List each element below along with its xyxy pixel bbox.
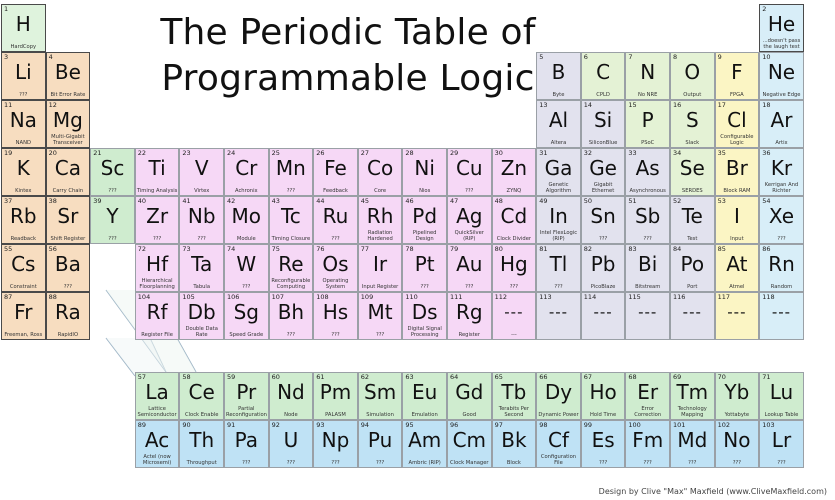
element-term-label: Asynchronous (627, 188, 668, 194)
element-symbol: Fr (2, 301, 45, 323)
element-symbol: Cu (448, 157, 491, 179)
element-cell-sb[interactable]: 51Sb??? (625, 196, 670, 244)
element-cell-rg[interactable]: 111RgRegister (447, 292, 492, 340)
element-cell-v[interactable]: 23VVirtex (179, 148, 224, 196)
element-term-label: Negative Edge (761, 92, 802, 98)
element-symbol: Sr (47, 205, 90, 227)
element-cell-p[interactable]: 15PPSoC (625, 100, 670, 148)
element-cell-dash[interactable]: 116--- (670, 292, 715, 340)
element-cell-mg[interactable]: 12MgMulti-Gigabit Transceiver (46, 100, 91, 148)
element-term-label: ??? (315, 332, 356, 338)
element-cell-y[interactable]: 39Y??? (90, 196, 135, 244)
element-symbol: Hg (493, 253, 536, 275)
atomic-number: 43 (272, 197, 280, 205)
element-symbol: As (626, 157, 669, 179)
atomic-number: 116 (673, 293, 685, 301)
element-symbol: Lr (760, 429, 803, 451)
element-cell-cl[interactable]: 17ClConfigurable Logic (715, 100, 760, 148)
element-term-label: ??? (360, 332, 401, 338)
element-symbol: Pb (582, 253, 625, 275)
element-cell-bi[interactable]: 83BiBitstream (625, 244, 670, 292)
element-symbol: Es (582, 429, 625, 451)
element-cell-ds[interactable]: 110DsDigital Signal Processing (402, 292, 447, 340)
element-term-label: Double Data Rate (181, 326, 222, 338)
element-cell-cr[interactable]: 24CrAchronix (224, 148, 269, 196)
element-term-label: Input (717, 236, 758, 242)
element-cell-k[interactable]: 19KKintex (1, 148, 46, 196)
element-cell-al[interactable]: 13AlAltera (536, 100, 581, 148)
element-symbol: No (716, 429, 759, 451)
element-symbol: F (716, 61, 759, 83)
element-symbol: Yb (716, 381, 759, 403)
element-term-label: Configurable Logic (717, 134, 758, 146)
atomic-number: 59 (227, 373, 235, 381)
element-term-label: PicoBlaze (583, 284, 624, 290)
atomic-number: 49 (539, 197, 547, 205)
element-cell-b[interactable]: 5BByte (536, 52, 581, 100)
element-term-label: Clock Manager (449, 460, 490, 466)
element-cell-ho[interactable]: 67HoHold Time (581, 372, 626, 420)
element-cell-rb[interactable]: 37RbReadback (1, 196, 46, 244)
atomic-number: 53 (718, 197, 726, 205)
element-cell-at[interactable]: 85AtAtmel (715, 244, 760, 292)
element-cell-co[interactable]: 27CoCore (358, 148, 403, 196)
atomic-number: 22 (138, 149, 146, 157)
element-term-label: Random (761, 284, 802, 290)
element-cell-er[interactable]: 68ErError Correction (625, 372, 670, 420)
element-cell-sr[interactable]: 38SrShift Register (46, 196, 91, 244)
element-symbol: Ho (582, 381, 625, 403)
element-cell-bk[interactable]: 97BkBlock (492, 420, 537, 468)
element-cell-am[interactable]: 95AmAmbric (RIP) (402, 420, 447, 468)
element-cell-mo[interactable]: 42MoModule (224, 196, 269, 244)
element-term-label: Slack (672, 140, 713, 146)
element-term-label: ??? (627, 460, 668, 466)
element-term-label: Hold Time (583, 412, 624, 418)
element-cell-dash[interactable]: 118--- (759, 292, 804, 340)
element-term-label: ??? (494, 284, 535, 290)
element-cell-ra[interactable]: 88RaRapidIO (46, 292, 91, 340)
element-cell-ru[interactable]: 44Ru??? (313, 196, 358, 244)
element-term-label: Timing Analysis (137, 188, 178, 194)
element-symbol: Hs (314, 301, 357, 323)
element-cell-ag[interactable]: 47AgQuickSilver (RIP) (447, 196, 492, 244)
element-term-label: Terabits Per Second (494, 406, 535, 418)
element-term-label: Genetic Algorithm (538, 182, 579, 194)
element-cell-cu[interactable]: 29Cu??? (447, 148, 492, 196)
element-symbol: Al (537, 109, 580, 131)
element-cell-n[interactable]: 7NNo NRE (625, 52, 670, 100)
element-symbol: I (716, 205, 759, 227)
element-term-label: Atmel (717, 284, 758, 290)
element-term-label: SiliconBlue (583, 140, 624, 146)
element-cell-lu[interactable]: 71LuLookup Table (759, 372, 804, 420)
atomic-number: 13 (539, 101, 547, 109)
element-cell-cf[interactable]: 98CfConfiguration File (536, 420, 581, 468)
element-symbol: Np (314, 429, 357, 451)
element-term-label: ??? (449, 284, 490, 290)
element-cell-sc[interactable]: 21Sc??? (90, 148, 135, 196)
element-symbol: Rh (359, 205, 402, 227)
element-cell-be[interactable]: 4BeBit Error Rate (46, 52, 91, 100)
element-term-label: Module (226, 236, 267, 242)
atomic-number: 35 (718, 149, 726, 157)
element-cell-bh[interactable]: 107Bh??? (269, 292, 314, 340)
element-symbol: Os (314, 253, 357, 275)
element-cell-sg[interactable]: 106SgSpeed Grade (224, 292, 269, 340)
element-cell-mt[interactable]: 109Mt??? (358, 292, 403, 340)
element-cell-dash[interactable]: 117--- (715, 292, 760, 340)
element-symbol: In (537, 205, 580, 227)
element-cell-ga[interactable]: 31GaGenetic Algorithm (536, 148, 581, 196)
atomic-number: 52 (673, 197, 681, 205)
element-cell-li[interactable]: 3Li??? (1, 52, 46, 100)
element-cell-s[interactable]: 16SSlack (670, 100, 715, 148)
element-cell-tc[interactable]: 43TcTiming Closure (269, 196, 314, 244)
element-symbol: Se (671, 157, 714, 179)
element-cell-zn[interactable]: 30ZnZYNQ (492, 148, 537, 196)
element-term-label: Virtex (181, 188, 222, 194)
element-term-label: ??? (404, 284, 445, 290)
element-symbol: Sn (582, 205, 625, 227)
element-term-label: --- (494, 332, 535, 338)
element-term-label: ZYNQ (494, 188, 535, 194)
element-term-label: Clock Enable (181, 412, 222, 418)
element-symbol: Bh (270, 301, 313, 323)
element-symbol: Ti (136, 157, 179, 179)
element-cell-w[interactable]: 74W??? (224, 244, 269, 292)
atomic-number: 87 (4, 293, 12, 301)
element-term-label: Digital Signal Processing (404, 326, 445, 338)
element-term-label: Yottabyte (717, 412, 758, 418)
credit-line: Design by Clive "Max" Maxfield (www.Cliv… (599, 487, 827, 496)
element-term-label: Simulation (360, 412, 401, 418)
element-term-label: ??? (761, 236, 802, 242)
element-symbol: Fe (314, 157, 357, 179)
element-symbol: Th (180, 429, 223, 451)
element-term-label: ...doesn't pass the laugh test (761, 38, 802, 50)
element-cell-br[interactable]: 35BrBlock RAM (715, 148, 760, 196)
atomic-number: 74 (227, 245, 235, 253)
element-cell-ce[interactable]: 58CeClock Enable (179, 372, 224, 420)
element-cell-si[interactable]: 14SiSiliconBlue (581, 100, 626, 148)
element-cell-ac[interactable]: 89AcActel (now Microsemi) (135, 420, 180, 468)
element-term-label: Artix (761, 140, 802, 146)
element-cell-te[interactable]: 52TeTest (670, 196, 715, 244)
element-cell-eu[interactable]: 63EuEmulation (402, 372, 447, 420)
element-term-label: ??? (271, 188, 312, 194)
atomic-number: 85 (718, 245, 726, 253)
element-cell-re[interactable]: 75ReReconfigurable Computing (269, 244, 314, 292)
element-cell-au[interactable]: 79Au??? (447, 244, 492, 292)
element-term-label: Good (449, 412, 490, 418)
element-symbol: Na (2, 109, 45, 131)
element-symbol: Rf (136, 301, 179, 323)
element-cell-tm[interactable]: 69TmTechnology Mapping (670, 372, 715, 420)
atomic-number: 78 (405, 245, 413, 253)
element-cell-f[interactable]: 9FFPGA (715, 52, 760, 100)
atomic-number: 2 (762, 5, 766, 13)
element-symbol: Ni (403, 157, 446, 179)
atomic-number: 77 (361, 245, 369, 253)
element-term-label: Constraint (3, 284, 44, 290)
element-term-label: ??? (583, 236, 624, 242)
element-cell-fr[interactable]: 87FrFreeman, Ross (1, 292, 46, 340)
element-cell-ba[interactable]: 56Ba??? (46, 244, 91, 292)
element-symbol: Br (716, 157, 759, 179)
element-term-label: Altera (538, 140, 579, 146)
element-term-label: ??? (761, 460, 802, 466)
title-line-2: Programmable Logic (161, 56, 534, 102)
atomic-number: 1 (4, 5, 8, 13)
element-term-label: Lattice Semiconductor (137, 406, 178, 418)
element-cell-pm[interactable]: 61PmPALASM (313, 372, 358, 420)
element-cell-tb[interactable]: 65TbTerabits Per Second (492, 372, 537, 420)
element-term-label: Technology Mapping (672, 406, 713, 418)
element-symbol: Ag (448, 205, 491, 227)
element-symbol: At (716, 253, 759, 275)
element-term-label: Kerrigan And Richter (761, 182, 802, 194)
element-cell-pu[interactable]: 94Pu??? (358, 420, 403, 468)
element-cell-md[interactable]: 101Md??? (670, 420, 715, 468)
atomic-number: 16 (673, 101, 681, 109)
element-term-label: Block RAM (717, 188, 758, 194)
element-cell-ti[interactable]: 22TiTiming Analysis (135, 148, 180, 196)
element-term-label: Node (271, 412, 312, 418)
element-cell-xe[interactable]: 54Xe??? (759, 196, 804, 244)
element-cell-c[interactable]: 6CCPLD (581, 52, 626, 100)
element-term-label: FPGA (717, 92, 758, 98)
element-symbol: Si (582, 109, 625, 131)
element-cell-rn[interactable]: 86RnRandom (759, 244, 804, 292)
element-symbol: Nb (180, 205, 223, 227)
element-symbol: --- (671, 301, 714, 323)
element-cell-dash[interactable]: 115--- (625, 292, 670, 340)
element-cell-th[interactable]: 90ThThroughput (179, 420, 224, 468)
element-term-label: No NRE (627, 92, 668, 98)
element-symbol: Bk (493, 429, 536, 451)
atomic-number: 40 (138, 197, 146, 205)
element-cell-pb[interactable]: 82PbPicoBlaze (581, 244, 626, 292)
element-term-label: SERDES (672, 188, 713, 194)
element-cell-sm[interactable]: 62SmSimulation (358, 372, 403, 420)
element-cell-pt[interactable]: 78Pt??? (402, 244, 447, 292)
element-cell-rf[interactable]: 104RfRegister File (135, 292, 180, 340)
atomic-number: 115 (628, 293, 640, 301)
element-cell-na[interactable]: 11NaNAND (1, 100, 46, 148)
element-cell-cs[interactable]: 55CsConstraint (1, 244, 46, 292)
element-cell-ne[interactable]: 10NeNegative Edge (759, 52, 804, 100)
atomic-number: 15 (628, 101, 636, 109)
element-cell-nd[interactable]: 60NdNode (269, 372, 314, 420)
element-term-label: Byte (538, 92, 579, 98)
element-cell-hg[interactable]: 80Hg??? (492, 244, 537, 292)
element-symbol: Cs (2, 253, 45, 275)
element-cell-i[interactable]: 53IInput (715, 196, 760, 244)
element-symbol: Li (2, 61, 45, 83)
element-symbol: P (626, 109, 669, 131)
element-cell-ir[interactable]: 77IrInput Register (358, 244, 403, 292)
element-cell-pr[interactable]: 59PrPartial Reconfiguration (224, 372, 269, 420)
element-symbol: Pa (225, 429, 268, 451)
element-cell-o[interactable]: 8OOutput (670, 52, 715, 100)
element-cell-np[interactable]: 93Np??? (313, 420, 358, 468)
element-symbol: Ac (136, 429, 179, 451)
element-cell-cm[interactable]: 96CmClock Manager (447, 420, 492, 468)
element-symbol: Mn (270, 157, 313, 179)
element-cell-dy[interactable]: 66DyDynamic Power (536, 372, 581, 420)
element-symbol: U (270, 429, 313, 451)
element-symbol: --- (760, 301, 803, 323)
element-cell-fe[interactable]: 26FeFeedback (313, 148, 358, 196)
element-cell-ca[interactable]: 20CaCarry Chain (46, 148, 91, 196)
element-term-label: ??? (226, 284, 267, 290)
element-cell-lr[interactable]: 103Lr??? (759, 420, 804, 468)
element-symbol: Bi (626, 253, 669, 275)
atomic-number: 19 (4, 149, 12, 157)
element-symbol: Ce (180, 381, 223, 403)
element-term-label: ??? (360, 460, 401, 466)
element-symbol: Po (671, 253, 714, 275)
element-cell-ta[interactable]: 73TaTabula (179, 244, 224, 292)
element-symbol: Au (448, 253, 491, 275)
element-cell-dash[interactable]: 113--- (536, 292, 581, 340)
element-term-label: Partial Reconfiguration (226, 406, 267, 418)
element-cell-po[interactable]: 84PoPort (670, 244, 715, 292)
element-symbol: Re (270, 253, 313, 275)
element-symbol: Cm (448, 429, 491, 451)
periodic-table-poster: The Periodic Table of Programmable Logic… (0, 0, 835, 500)
element-cell-u[interactable]: 92U??? (269, 420, 314, 468)
atomic-number: 81 (539, 245, 547, 253)
element-term-label: Shift Register (48, 236, 89, 242)
element-term-label: Error Correction (627, 406, 668, 418)
element-term-label: Dynamic Power (538, 412, 579, 418)
element-symbol: Be (47, 61, 90, 83)
element-term-label: Achronix (226, 188, 267, 194)
element-cell-he[interactable]: 2He...doesn't pass the laugh test (759, 4, 804, 52)
element-symbol: Ne (760, 61, 803, 83)
atomic-number: 73 (182, 245, 190, 253)
element-term-label: ??? (92, 236, 133, 242)
element-symbol: --- (626, 301, 669, 323)
element-cell-ni[interactable]: 28NiNios (402, 148, 447, 196)
element-symbol: Sb (626, 205, 669, 227)
element-cell-kr[interactable]: 36KrKerrigan And Richter (759, 148, 804, 196)
element-cell-dash[interactable]: 112------ (492, 292, 537, 340)
atomic-number: 3 (4, 53, 8, 61)
atomic-number: 5 (539, 53, 543, 61)
element-term-label: Ambric (RIP) (404, 460, 445, 466)
element-symbol: Tb (493, 381, 536, 403)
element-cell-nb[interactable]: 41Nb??? (179, 196, 224, 244)
element-symbol: Mg (47, 109, 90, 131)
element-cell-as[interactable]: 33AsAsynchronous (625, 148, 670, 196)
element-term-label: ??? (627, 236, 668, 242)
element-cell-gd[interactable]: 64GdGood (447, 372, 492, 420)
element-symbol: C (582, 61, 625, 83)
element-cell-tl[interactable]: 81Tl??? (536, 244, 581, 292)
element-cell-hf[interactable]: 72HfHierarchical Floorplanning (135, 244, 180, 292)
element-symbol: O (671, 61, 714, 83)
element-cell-fm[interactable]: 100Fm??? (625, 420, 670, 468)
element-term-label: ??? (315, 236, 356, 242)
element-symbol: V (180, 157, 223, 179)
element-term-label: Register (449, 332, 490, 338)
element-cell-pa[interactable]: 91Pa??? (224, 420, 269, 468)
atomic-number: 83 (628, 245, 636, 253)
element-cell-es[interactable]: 99Es??? (581, 420, 626, 468)
element-symbol: Cr (225, 157, 268, 179)
element-symbol: Tc (270, 205, 313, 227)
element-symbol: Ds (403, 301, 446, 323)
element-symbol: Hf (136, 253, 179, 275)
element-cell-mn[interactable]: 25Mn??? (269, 148, 314, 196)
element-cell-in[interactable]: 49InIntel FlexLogic (RIP) (536, 196, 581, 244)
element-symbol: H (2, 13, 45, 35)
element-symbol: Ge (582, 157, 625, 179)
element-cell-yb[interactable]: 70YbYottabyte (715, 372, 760, 420)
element-cell-os[interactable]: 76OsOperating System (313, 244, 358, 292)
element-symbol: Ra (47, 301, 90, 323)
atomic-number: 117 (718, 293, 730, 301)
atomic-number: 8 (673, 53, 677, 61)
element-symbol: --- (582, 301, 625, 323)
element-cell-ge[interactable]: 32GeGigabit Ethernet (581, 148, 626, 196)
element-term-label: Feedback (315, 188, 356, 194)
element-term-label: Lookup Table (761, 412, 802, 418)
element-cell-cd[interactable]: 48CdClock Divider (492, 196, 537, 244)
element-cell-hs[interactable]: 108Hs??? (313, 292, 358, 340)
element-symbol: Ca (47, 157, 90, 179)
atomic-number: 39 (93, 197, 101, 205)
page-title: The Periodic Table of Programmable Logic (148, 4, 548, 108)
element-cell-h[interactable]: 1HHardCopy (1, 4, 46, 52)
element-cell-rh[interactable]: 45RhRadiation Hardened (358, 196, 403, 244)
element-symbol: Pd (403, 205, 446, 227)
element-cell-ar[interactable]: 18ArArtix (759, 100, 804, 148)
atomic-number: 4 (49, 53, 53, 61)
element-term-label: ??? (48, 284, 89, 290)
element-symbol: Ir (359, 253, 402, 275)
element-cell-pd[interactable]: 46PdPipelined Design (402, 196, 447, 244)
element-symbol: Er (626, 381, 669, 403)
atomic-number: 72 (138, 245, 146, 253)
element-symbol: S (671, 109, 714, 131)
atomic-number: 6 (584, 53, 588, 61)
atomic-number: 24 (227, 149, 235, 157)
element-cell-no[interactable]: 102No??? (715, 420, 760, 468)
element-symbol: Tm (671, 381, 714, 403)
element-cell-se[interactable]: 34SeSERDES (670, 148, 715, 196)
element-cell-db[interactable]: 105DbDouble Data Rate (179, 292, 224, 340)
element-cell-zr[interactable]: 40Zr??? (135, 196, 180, 244)
element-cell-la[interactable]: 57LaLattice Semiconductor (135, 372, 180, 420)
element-cell-dash[interactable]: 114--- (581, 292, 626, 340)
element-symbol: Fm (626, 429, 669, 451)
element-term-label: Multi-Gigabit Transceiver (48, 134, 89, 146)
element-term-label: Hierarchical Floorplanning (137, 278, 178, 290)
element-term-label: ??? (226, 460, 267, 466)
element-term-label: PALASM (315, 412, 356, 418)
element-cell-sn[interactable]: 50Sn??? (581, 196, 626, 244)
element-symbol: Rg (448, 301, 491, 323)
element-term-label: Timing Closure (271, 236, 312, 242)
element-term-label: Core (360, 188, 401, 194)
element-symbol: K (2, 157, 45, 179)
element-symbol: Xe (760, 205, 803, 227)
atomic-number: 118 (762, 293, 774, 301)
